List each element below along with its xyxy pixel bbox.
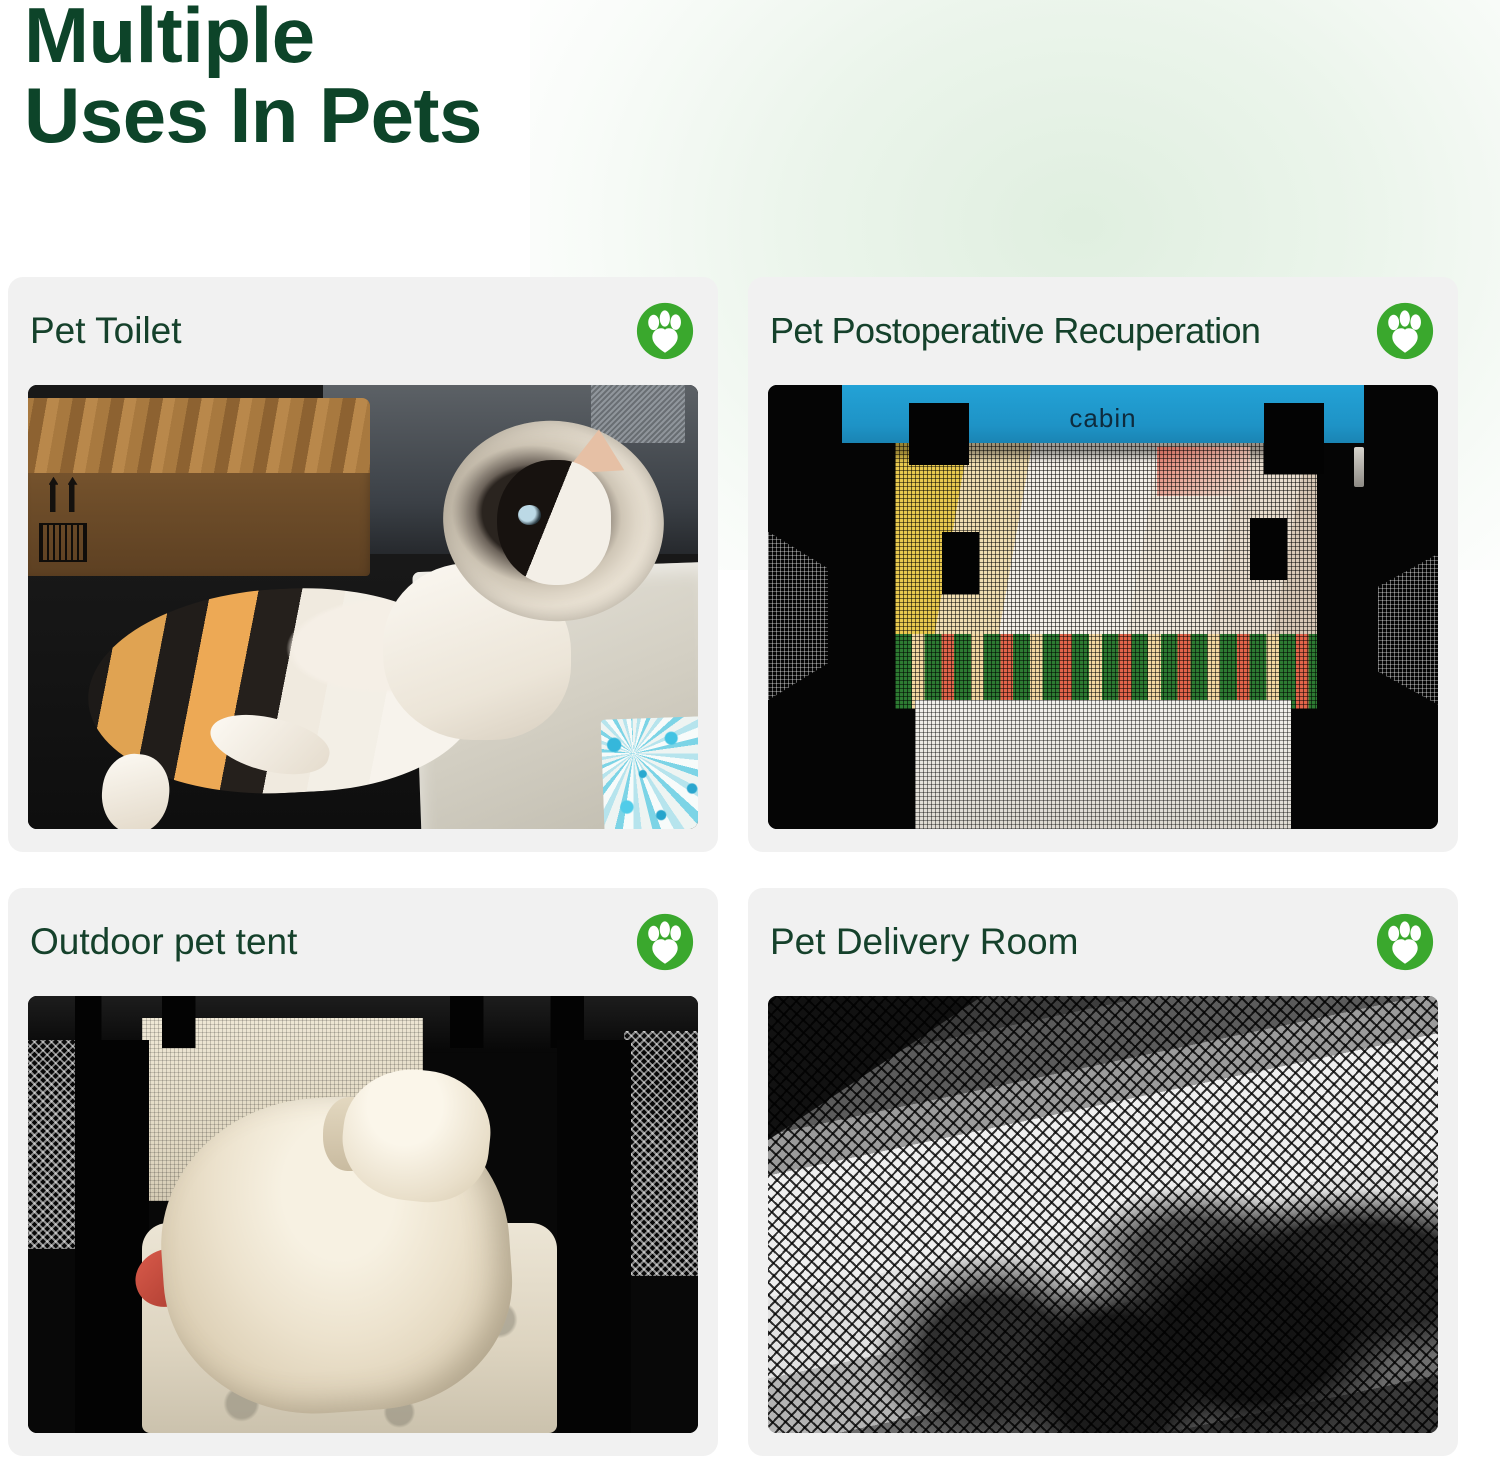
pet-uses-infographic: Multiple Uses In Pets Pet Toilet bbox=[0, 0, 1500, 1466]
cardboard-box bbox=[28, 398, 370, 576]
card-header: Outdoor pet tent bbox=[8, 888, 718, 996]
paw-icon bbox=[636, 302, 694, 360]
photo-outdoor-pet-tent bbox=[28, 996, 698, 1433]
use-card-pet-delivery-room[interactable]: Pet Delivery Room bbox=[748, 888, 1458, 1456]
page-title: Multiple Uses In Pets bbox=[24, 0, 784, 155]
zipper-pull bbox=[1354, 447, 1364, 487]
card-title-pet-toilet: Pet Toilet bbox=[30, 312, 182, 351]
photo-frame-pet-toilet bbox=[28, 385, 698, 829]
card-header: Pet Postoperative Recuperation bbox=[748, 277, 1458, 385]
card-header: Pet Delivery Room bbox=[748, 888, 1458, 996]
cabin-label: cabin bbox=[768, 403, 1438, 434]
photo-pet-delivery-room bbox=[768, 996, 1438, 1433]
card-title-pet-delivery-room: Pet Delivery Room bbox=[770, 923, 1078, 962]
mesh-overlay bbox=[768, 996, 1438, 1433]
paw-icon bbox=[636, 913, 694, 971]
card-header: Pet Toilet bbox=[8, 277, 718, 385]
photo-pet-toilet bbox=[28, 385, 698, 829]
cat-face bbox=[497, 460, 611, 584]
photo-pet-postoperative-recuperation: cabin bbox=[768, 385, 1438, 829]
card-title-pet-postoperative-recuperation: Pet Postoperative Recuperation bbox=[770, 312, 1260, 350]
use-case-grid: Pet Toilet bbox=[8, 277, 1492, 1456]
paw-icon bbox=[1376, 913, 1434, 971]
photo-frame-pet-postoperative-recuperation: cabin bbox=[768, 385, 1438, 829]
use-card-outdoor-pet-tent[interactable]: Outdoor pet tent bbox=[8, 888, 718, 1456]
card-title-outdoor-pet-tent: Outdoor pet tent bbox=[30, 923, 297, 962]
use-card-pet-postoperative-recuperation[interactable]: Pet Postoperative Recuperation cabin bbox=[748, 277, 1458, 852]
use-card-pet-toilet[interactable]: Pet Toilet bbox=[8, 277, 718, 852]
photo-frame-pet-delivery-room bbox=[768, 996, 1438, 1433]
paw-icon bbox=[1376, 302, 1434, 360]
photo-frame-outdoor-pet-tent bbox=[28, 996, 698, 1433]
